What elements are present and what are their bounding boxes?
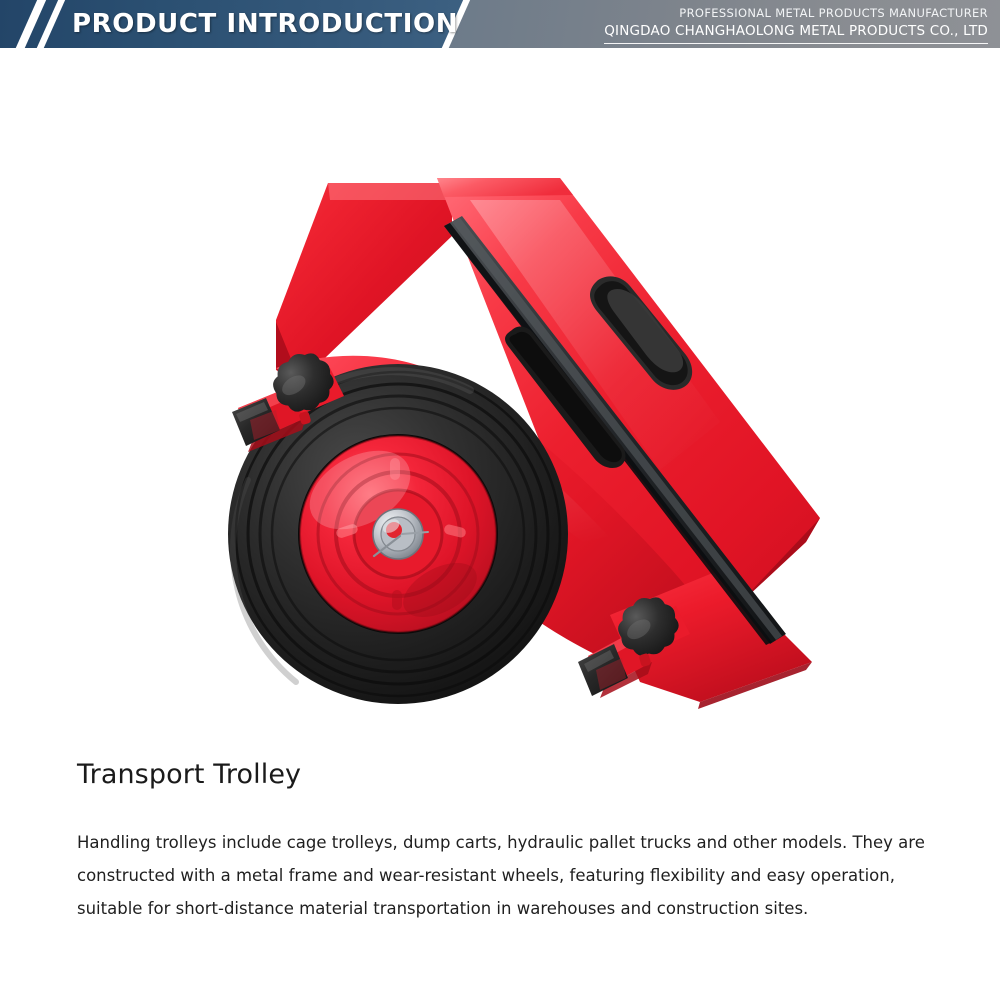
page-title: PRODUCT INTRODUCTION bbox=[72, 9, 458, 39]
product-copy: Transport Trolley Handling trolleys incl… bbox=[77, 758, 947, 925]
product-image-stage bbox=[0, 50, 1000, 740]
product-description: Handling trolleys include cage trolleys,… bbox=[77, 826, 934, 925]
company-identity: PROFESSIONAL METAL PRODUCTS MANUFACTURER… bbox=[604, 6, 988, 44]
company-name: QINGDAO CHANGHAOLONG METAL PRODUCTS CO.,… bbox=[604, 22, 988, 44]
product-photo bbox=[0, 50, 1000, 740]
product-name: Transport Trolley bbox=[77, 758, 947, 792]
page-header-banner: PRODUCT INTRODUCTION PROFESSIONAL METAL … bbox=[0, 0, 1000, 50]
company-tagline: PROFESSIONAL METAL PRODUCTS MANUFACTURER bbox=[604, 6, 988, 22]
